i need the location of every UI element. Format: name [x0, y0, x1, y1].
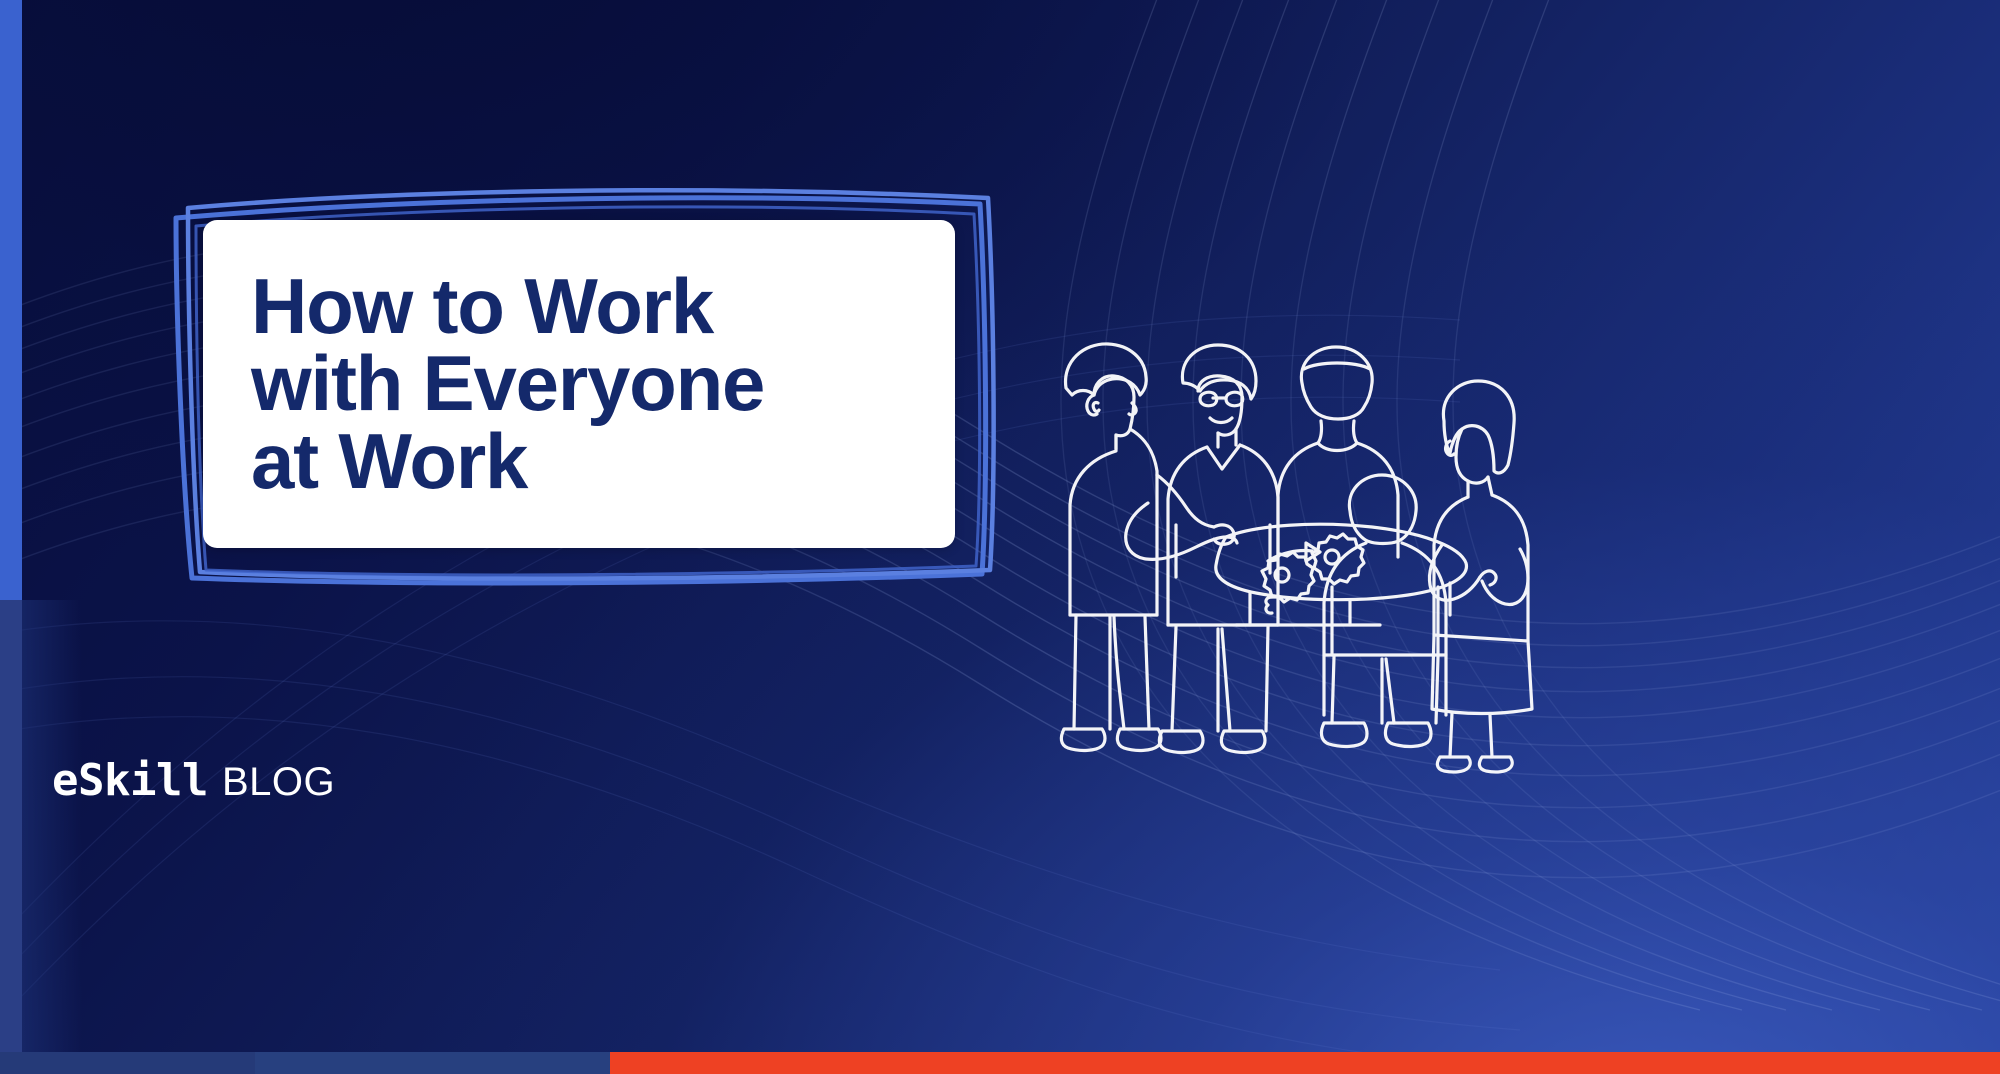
bottom-bar-segment-orange	[610, 1052, 2000, 1074]
blog-banner: How to Work with Everyone at Work	[0, 0, 2000, 1074]
logo-word-blog: BLOG	[222, 760, 335, 805]
logo-mark-eskill: eSkill	[52, 755, 208, 806]
team-collaboration-illustration	[1050, 325, 1540, 775]
brand-logo: eSkill BLOG	[52, 755, 335, 806]
left-panel-shade	[22, 600, 82, 1052]
bottom-bar	[0, 1052, 2000, 1074]
page-title: How to Work with Everyone at Work	[251, 268, 764, 500]
title-card: How to Work with Everyone at Work	[203, 220, 955, 548]
bottom-bar-segment	[255, 1052, 610, 1074]
left-accent-stripe-bottom	[0, 600, 22, 1052]
bottom-bar-segment	[0, 1052, 255, 1074]
left-accent-stripe-top	[0, 0, 22, 600]
